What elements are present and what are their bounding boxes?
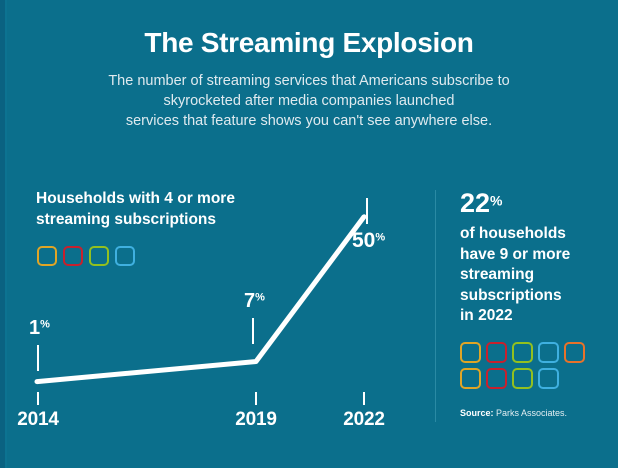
stat-line-4: subscriptions [460, 286, 610, 307]
infographic-canvas: The Streaming Explosion The number of st… [0, 0, 618, 468]
subtitle-line-1: The number of streaming services that Am… [0, 71, 618, 91]
axis-label-2014: 2014 [17, 409, 58, 431]
percent-symbol: % [490, 193, 502, 209]
stat-value-number: 22 [460, 188, 490, 218]
axis-tick-2022 [363, 392, 365, 405]
value-number-2022: 50 [352, 229, 375, 252]
value-number-2019: 7 [244, 290, 255, 312]
value-tick-2022 [366, 198, 368, 224]
value-tick-2019 [252, 318, 254, 344]
page-title: The Streaming Explosion [0, 0, 618, 59]
stat-squares-row-1 [460, 342, 610, 363]
stat-squares [460, 342, 610, 394]
stat-line-2: have 9 or more [460, 245, 610, 266]
percent-symbol: % [375, 232, 385, 244]
stat-line-1: of households [460, 224, 610, 245]
square-gold [460, 342, 481, 363]
square-red [486, 342, 507, 363]
stat-description: of households have 9 or more streaming s… [460, 224, 610, 327]
value-label-2014: 1% [29, 318, 50, 338]
stat-line-3: streaming [460, 265, 610, 286]
square-red [486, 368, 507, 389]
axis-label-2019: 2019 [235, 409, 276, 431]
stat-line-5: in 2022 [460, 306, 610, 327]
vertical-divider [435, 190, 436, 422]
axis-label-2022: 2022 [343, 409, 384, 431]
square-blue [538, 342, 559, 363]
source-attribution: Source: Parks Associates. [460, 408, 567, 418]
subtitle-line-2: skyrocketed after media companies launch… [0, 91, 618, 111]
chart-panel: Households with 4 or more streaming subs… [0, 170, 432, 468]
header: The Streaming Explosion The number of st… [0, 0, 618, 131]
value-label-2022: 50% [352, 230, 385, 251]
subtitle: The number of streaming services that Am… [0, 59, 618, 131]
square-green [512, 342, 533, 363]
axis-tick-2014 [37, 392, 39, 405]
square-green [512, 368, 533, 389]
square-gold [460, 368, 481, 389]
stat-value: 22% [460, 190, 610, 217]
subtitle-line-3: services that feature shows you can't se… [0, 111, 618, 131]
square-orange [564, 342, 585, 363]
percent-symbol: % [255, 292, 265, 304]
percent-symbol: % [40, 319, 50, 331]
value-tick-2014 [37, 345, 39, 371]
value-label-2019: 7% [244, 291, 265, 311]
axis-tick-2019 [255, 392, 257, 405]
square-blue [538, 368, 559, 389]
value-number-2014: 1 [29, 317, 40, 339]
source-label: Source: [460, 408, 494, 418]
chart-line [37, 217, 364, 382]
stat-panel: 22% of households have 9 or more streami… [460, 190, 610, 327]
source-name: Parks Associates. [496, 408, 567, 418]
stat-squares-row-2 [460, 368, 610, 389]
